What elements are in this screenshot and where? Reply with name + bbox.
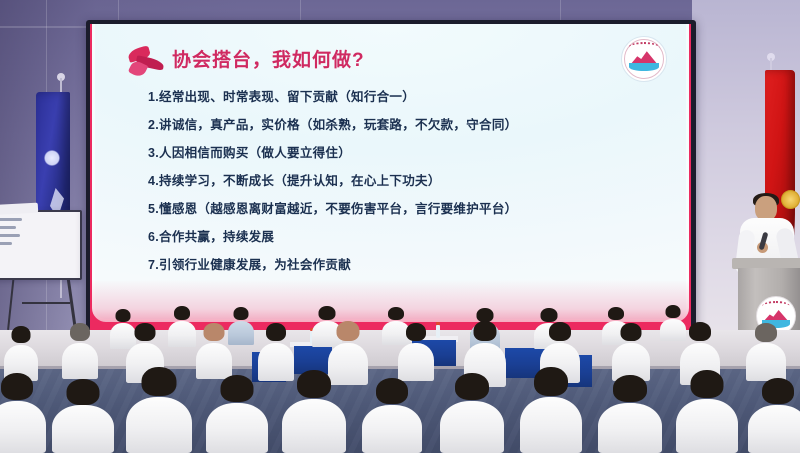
audience-member bbox=[258, 335, 294, 381]
slide-bullet-item: 1.经常出现、时常表现、留下贡献（知行合一） bbox=[148, 86, 651, 105]
slide-bullet-item: 4.持续学习，不断成长（提升认知，在心上下功夫） bbox=[148, 170, 651, 189]
association-mountain-logo-icon bbox=[621, 36, 667, 82]
slide-bullet-item: 6.合作共赢，持续发展 bbox=[148, 226, 651, 245]
audience-member bbox=[676, 389, 738, 453]
audience-member bbox=[748, 395, 800, 453]
audience-member bbox=[362, 395, 422, 453]
audience-member bbox=[328, 335, 368, 385]
slide-bullet-item: 2.讲诚信，真产品，实价格（如杀熟，玩套路，不欠款，守合同） bbox=[148, 114, 651, 133]
audience-member bbox=[520, 387, 582, 453]
slide-surface: 协会搭台，我如何做? 1.经常出现、时常表现、留下贡献（知行合一） 2.讲诚信，… bbox=[90, 24, 691, 332]
slide-bullet-item: 3.人因相信而购买（做人要立得住） bbox=[148, 142, 651, 161]
audience-member bbox=[0, 391, 46, 453]
presentation-slide: 协会搭台，我如何做? 1.经常出现、时常表现、留下贡献（知行合一） 2.讲诚信，… bbox=[90, 24, 691, 332]
audience-member bbox=[206, 393, 268, 453]
slide-bullet-item: 5.懂感恩（越感恩离财富越近，不要伤害平台，言行要维护平台） bbox=[148, 198, 651, 217]
audience-member bbox=[398, 335, 434, 381]
water-bottle bbox=[436, 325, 440, 338]
audience-member bbox=[440, 391, 504, 453]
whiteboard-marks bbox=[0, 226, 16, 229]
projection-screen: 协会搭台，我如何做? 1.经常出现、时常表现、留下贡献（知行合一） 2.讲诚信，… bbox=[86, 20, 696, 338]
seated-audience bbox=[0, 300, 800, 453]
audience-member bbox=[282, 389, 346, 453]
audience-member bbox=[52, 395, 114, 453]
whiteboard-marks bbox=[0, 234, 20, 237]
red-ribbon-icon bbox=[126, 46, 170, 80]
audience-member bbox=[746, 335, 786, 381]
whiteboard-marks bbox=[0, 218, 22, 221]
audience-member bbox=[598, 393, 662, 453]
audience-member bbox=[126, 387, 192, 453]
slide-bullet-item: 7.引领行业健康发展，为社会作贡献 bbox=[148, 254, 651, 273]
conference-photo: 协会搭台，我如何做? 1.经常出现、时常表现、留下贡献（知行合一） 2.讲诚信，… bbox=[0, 0, 800, 453]
whiteboard-panel bbox=[0, 210, 82, 280]
slide-bullet-list: 1.经常出现、时常表现、留下贡献（知行合一） 2.讲诚信，真产品，实价格（如杀熟… bbox=[148, 86, 651, 273]
audience-member bbox=[168, 315, 196, 347]
slide-title: 协会搭台，我如何做? bbox=[172, 45, 365, 72]
audience-member bbox=[196, 335, 232, 379]
whiteboard-marks bbox=[0, 242, 12, 245]
audience-member bbox=[62, 335, 98, 379]
